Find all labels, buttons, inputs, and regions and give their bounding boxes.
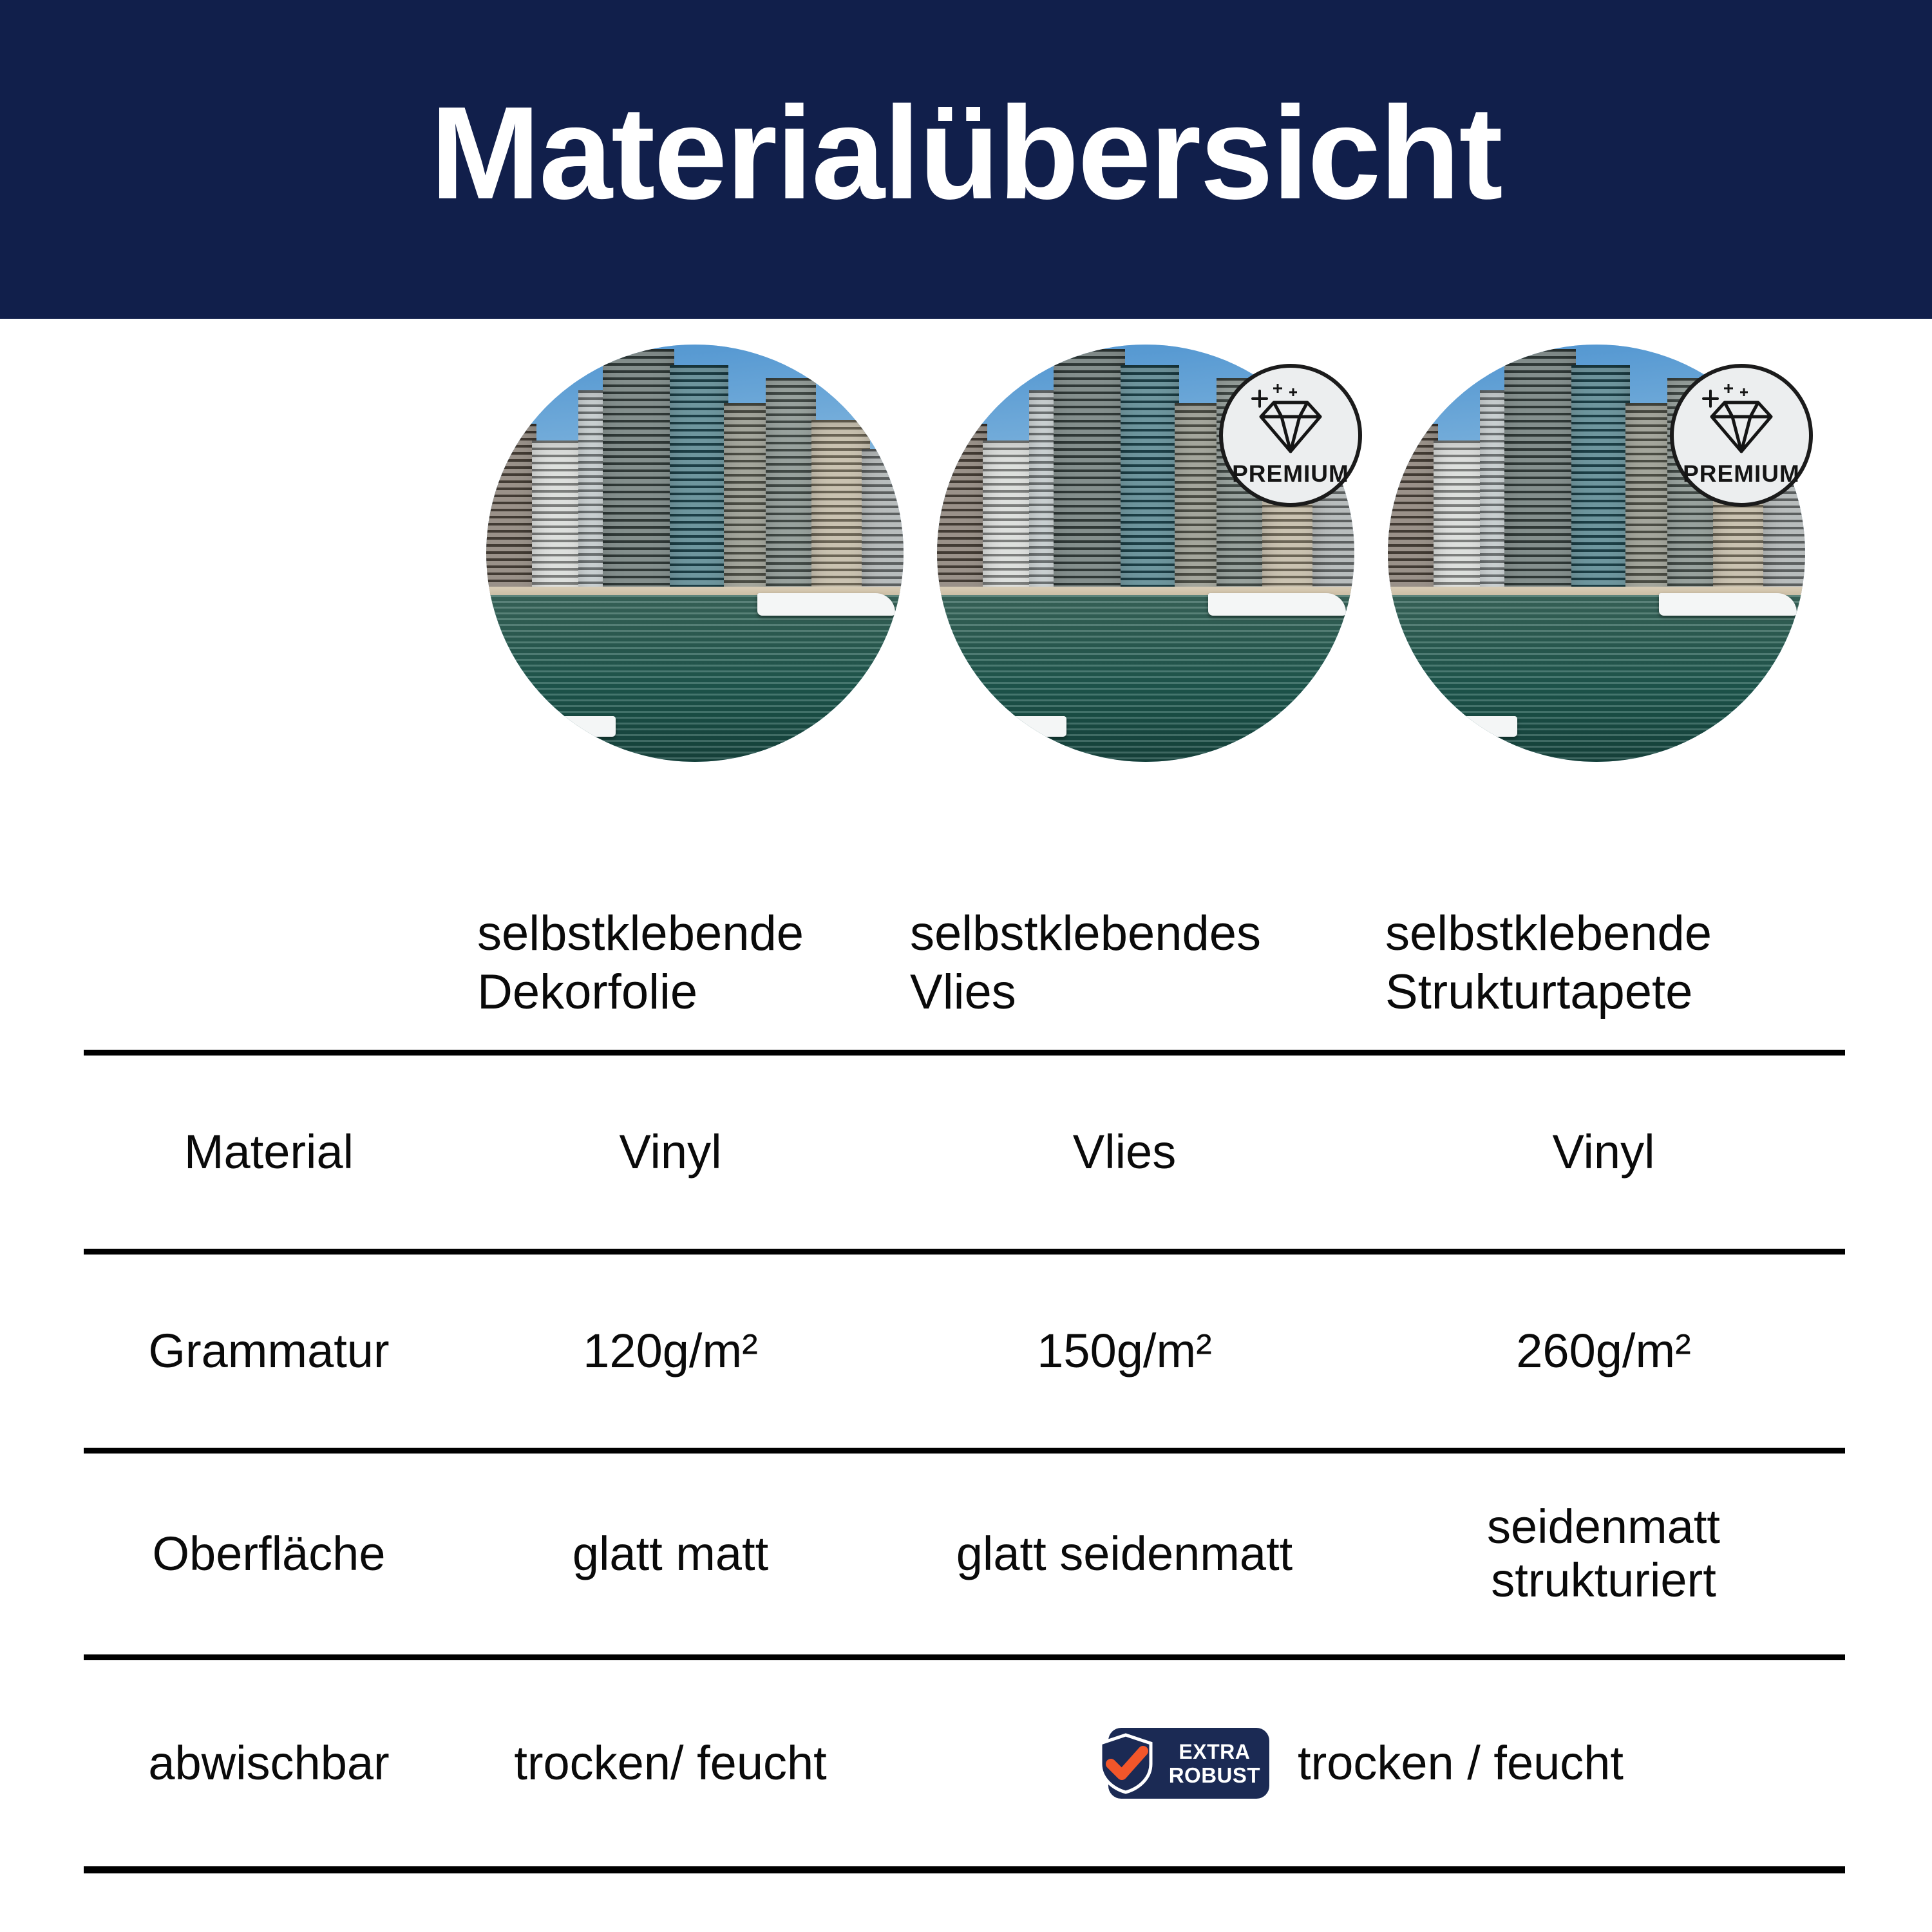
cell-grammatur-vlies: 150g/m² — [887, 1252, 1362, 1451]
cell-abwischbar-dekorfolie: trocken/ feucht — [454, 1658, 887, 1870]
premium-badge-label: PREMIUM — [1232, 460, 1349, 488]
photo-building — [937, 424, 987, 607]
cell-abwischbar-value: trocken / feucht — [1298, 1737, 1624, 1790]
cell-oberflaeche-strukturtapete: seidenmatt strukturiert — [1362, 1451, 1845, 1658]
photo-building — [486, 424, 536, 607]
photo-yacht — [757, 593, 895, 616]
photo-yacht — [949, 716, 1066, 737]
photo-building — [1054, 349, 1124, 608]
photo-building — [1625, 403, 1671, 608]
photo-building — [862, 449, 904, 607]
table-row: Grammatur 120g/m² 150g/m² 260g/m² — [84, 1252, 1845, 1451]
row-label-material: Material — [84, 1053, 454, 1252]
photo-yacht — [1659, 593, 1797, 616]
cell-grammatur-dekorfolie: 120g/m² — [454, 1252, 887, 1451]
material-sample-3[interactable]: PREMIUM — [1388, 345, 1805, 762]
photo-water — [1388, 595, 1805, 762]
extra-robust-line1: EXTRA — [1179, 1741, 1250, 1762]
material-sample-2[interactable]: PREMIUM — [937, 345, 1354, 762]
row-label-grammatur: Grammatur — [84, 1252, 454, 1451]
material-spec-table: selbstklebende Dekorfolie selbstklebende… — [84, 876, 1845, 1873]
premium-badge: PREMIUM — [1219, 364, 1362, 507]
table-corner-cell — [84, 876, 454, 1053]
photo-yacht — [1208, 593, 1346, 616]
extra-robust-text: EXTRA ROBUST — [1169, 1741, 1260, 1786]
table-row: Material Vinyl Vlies Vinyl — [84, 1053, 1845, 1252]
cell-abwischbar-merged: EXTRA ROBUST trocken / feucht — [887, 1658, 1845, 1870]
column-header-strukturtapete: selbstklebende Strukturtapete — [1362, 876, 1845, 1053]
photo-building — [1388, 424, 1438, 607]
table-row: Oberfläche glatt matt glatt seidenmatt s… — [84, 1451, 1845, 1658]
cell-material-dekorfolie: Vinyl — [454, 1053, 887, 1252]
column-header-vlies: selbstklebendes Vlies — [887, 876, 1362, 1053]
photo-yacht — [498, 716, 615, 737]
photo-building — [724, 403, 770, 608]
photo-water — [937, 595, 1354, 762]
cell-grammatur-strukturtapete: 260g/m² — [1362, 1252, 1845, 1451]
cell-material-strukturtapete: Vinyl — [1362, 1053, 1845, 1252]
photo-building — [670, 365, 728, 607]
material-samples: PREMIUM — [0, 345, 1932, 770]
photo-lifebuoy — [528, 715, 547, 734]
table-header-row: selbstklebende Dekorfolie selbstklebende… — [84, 876, 1845, 1053]
cell-oberflaeche-dekorfolie: glatt matt — [454, 1451, 887, 1658]
cell-material-vlies: Vlies — [887, 1053, 1362, 1252]
photo-lifebuoy — [979, 715, 998, 734]
row-label-oberflaeche: Oberfläche — [84, 1451, 454, 1658]
photo-building — [1504, 349, 1575, 608]
shield-check-icon — [1094, 1732, 1157, 1795]
photo-lifebuoy — [1430, 715, 1448, 734]
cell-oberflaeche-vlies: glatt seidenmatt — [887, 1451, 1362, 1658]
page-header: Materialübersicht — [0, 0, 1932, 319]
photo-building — [603, 349, 674, 608]
column-header-dekorfolie: selbstklebende Dekorfolie — [454, 876, 887, 1053]
premium-badge-label: PREMIUM — [1683, 460, 1800, 488]
photo-yacht — [1400, 716, 1517, 737]
extra-robust-badge: EXTRA ROBUST — [1108, 1728, 1269, 1799]
photo-water — [486, 595, 904, 762]
row-label-abwischbar: abwischbar — [84, 1658, 454, 1870]
photo-building — [766, 378, 816, 607]
sample-photo-1 — [486, 345, 904, 762]
photo-building — [1121, 365, 1179, 607]
diamond-icon — [1700, 383, 1783, 458]
table-row: abwischbar trocken/ feucht — [84, 1658, 1845, 1870]
page-title: Materialübersicht — [430, 87, 1501, 219]
extra-robust-line2: ROBUST — [1169, 1765, 1260, 1786]
material-sample-1[interactable] — [486, 345, 904, 762]
premium-badge: PREMIUM — [1670, 364, 1813, 507]
photo-building — [1571, 365, 1630, 607]
diamond-icon — [1249, 383, 1332, 458]
photo-building — [1175, 403, 1220, 608]
